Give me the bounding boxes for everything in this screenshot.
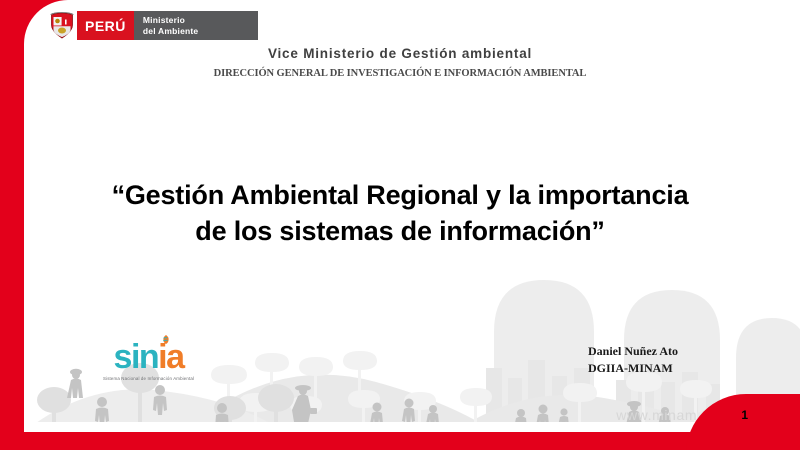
direction-general-subtitle: DIRECCIÓN GENERAL DE INVESTIGACIÓN E INF… [0, 68, 800, 79]
sinia-leaf-icon [162, 335, 170, 346]
sinia-tagline: Sistema Nacional de Información Ambienta… [103, 376, 194, 381]
ministry-line-2: del Ambiente [143, 26, 198, 36]
author-block: Daniel Nuñez Ato DGIIA-MINAM [588, 343, 678, 378]
presentation-slide: PERÚ Ministerio del Ambiente Vice Minist… [0, 0, 800, 450]
sinia-wordmark: sinia [114, 340, 184, 374]
title-line-1: “Gestión Ambiental Regional y la importa… [70, 178, 730, 214]
bottom-red-bar [0, 432, 800, 450]
page-title: “Gestión Ambiental Regional y la importa… [70, 178, 730, 249]
bottom-panel-rounded-corner [24, 422, 764, 432]
peru-coat-of-arms-icon [47, 11, 77, 40]
page-number: 1 [741, 408, 748, 422]
viceministry-title: Vice Ministerio de Gestión ambiental [0, 46, 800, 61]
ministry-logo: PERÚ Ministerio del Ambiente [47, 11, 258, 40]
ministry-line-1: Ministerio [143, 15, 198, 25]
author-name: Daniel Nuñez Ato [588, 343, 678, 360]
peru-label: PERÚ [77, 11, 134, 40]
sinia-logo: sinia Sistema Nacional de Información Am… [103, 340, 194, 381]
sinia-word-part-1: sin [114, 338, 159, 376]
author-organization: DGIIA-MINAM [588, 360, 678, 377]
title-line-2: de los sistemas de información” [70, 214, 730, 250]
ministry-label: Ministerio del Ambiente [134, 11, 258, 40]
